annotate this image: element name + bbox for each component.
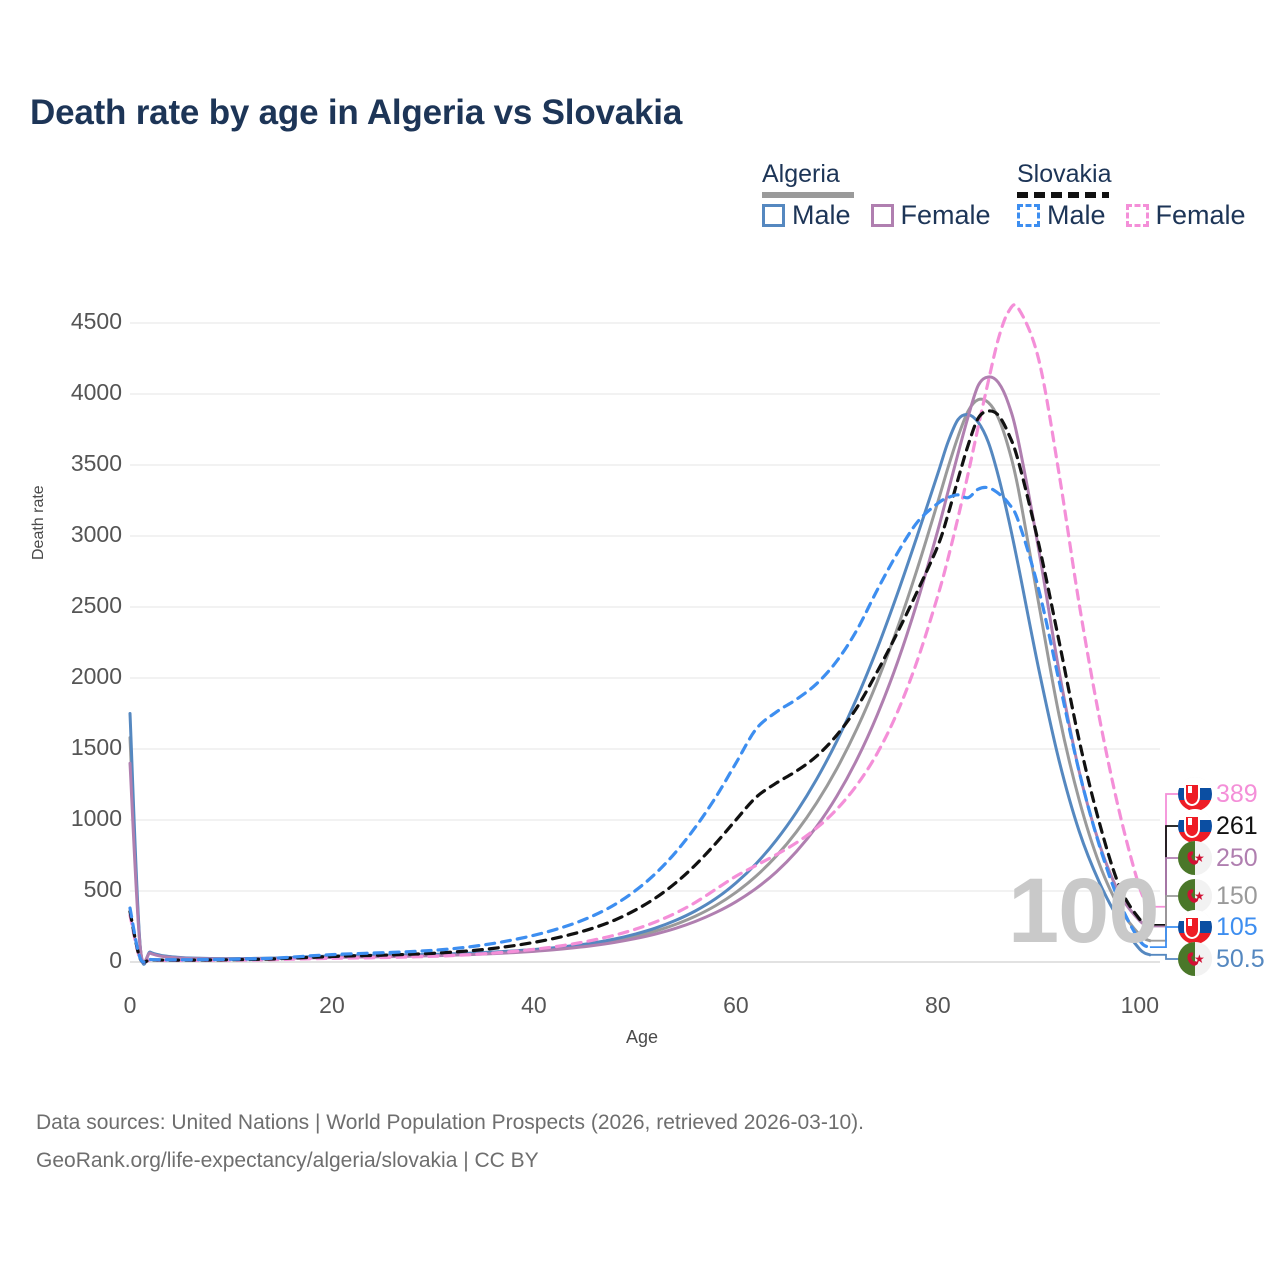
flag-icon-slovakia [1178, 910, 1212, 944]
footer-sources: Data sources: United Nations | World Pop… [36, 1104, 864, 1180]
y-tick-label: 4000 [71, 379, 122, 406]
series-line-slovakia-female [130, 305, 1150, 963]
x-tick-label: 60 [723, 992, 749, 1019]
end-label-value: 389 [1216, 780, 1258, 809]
x-tick-label: 100 [1121, 992, 1159, 1019]
end-label-value: 150 [1216, 882, 1258, 911]
y-tick-label: 500 [84, 876, 122, 903]
watermark-label: 100 [1008, 865, 1159, 957]
x-tick-label: 80 [925, 992, 951, 1019]
end-label-value: 105 [1216, 913, 1258, 942]
y-tick-label: 2500 [71, 592, 122, 619]
end-label[interactable]: ★250 [1178, 841, 1258, 875]
y-tick-label: 0 [109, 947, 122, 974]
end-label[interactable]: 105 [1178, 910, 1258, 944]
end-label[interactable]: ★150 [1178, 879, 1258, 913]
y-tick-label: 2000 [71, 663, 122, 690]
x-tick-label: 40 [521, 992, 547, 1019]
flag-icon-slovakia [1178, 809, 1212, 843]
end-label-value: 250 [1216, 844, 1258, 873]
y-tick-label: 3500 [71, 450, 122, 477]
series-line-algeria-both [130, 399, 1150, 963]
y-tick-label: 1000 [71, 805, 122, 832]
footer-line-1: Data sources: United Nations | World Pop… [36, 1104, 864, 1142]
x-axis-label: Age [626, 1027, 658, 1048]
flag-icon-algeria: ★ [1178, 879, 1212, 913]
y-tick-label: 3000 [71, 521, 122, 548]
end-label-value: 50.5 [1216, 945, 1265, 974]
flag-icon-algeria: ★ [1178, 841, 1212, 875]
x-tick-label: 0 [124, 992, 137, 1019]
flag-icon-algeria: ★ [1178, 942, 1212, 976]
y-axis-label: Death rate [30, 485, 48, 560]
end-label-value: 261 [1216, 812, 1258, 841]
chart-canvas [0, 0, 1280, 1280]
line-chart: 0500100015002000250030003500400045000204… [0, 0, 1280, 1280]
y-tick-label: 4500 [71, 308, 122, 335]
end-label[interactable]: 261 [1178, 809, 1258, 843]
end-label[interactable]: ★50.5 [1178, 942, 1265, 976]
x-tick-label: 20 [319, 992, 345, 1019]
footer-line-2: GeoRank.org/life-expectancy/algeria/slov… [36, 1142, 864, 1180]
y-tick-label: 1500 [71, 734, 122, 761]
flag-icon-slovakia [1178, 777, 1212, 811]
series-line-algeria-male [130, 414, 1150, 964]
end-label[interactable]: 389 [1178, 777, 1258, 811]
